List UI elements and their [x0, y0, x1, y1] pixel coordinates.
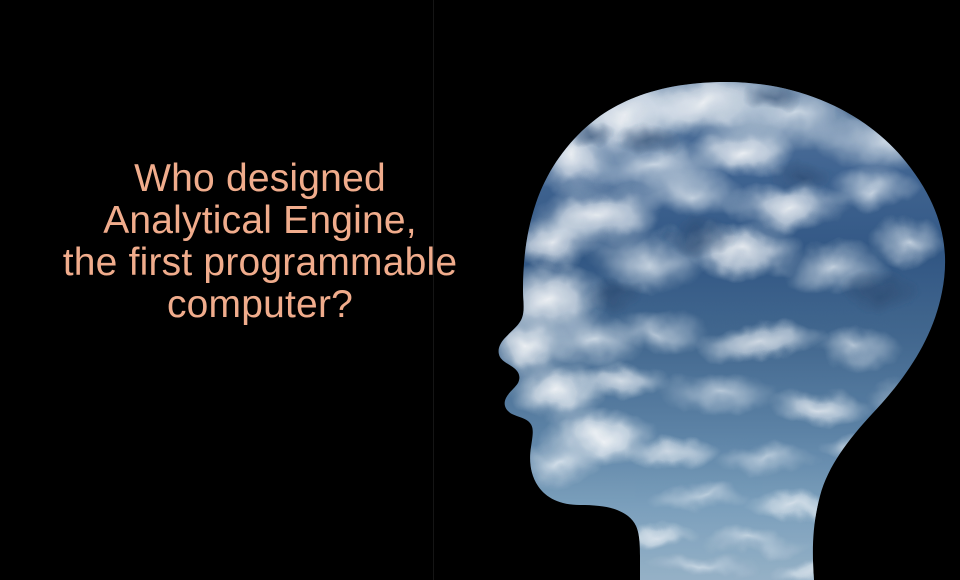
question-text: Who designed Analytical Engine, the firs…: [0, 158, 520, 326]
head-clipped-sky: [480, 60, 960, 580]
poster-canvas: Who designed Analytical Engine, the firs…: [0, 0, 960, 580]
film-grain: [480, 60, 960, 580]
